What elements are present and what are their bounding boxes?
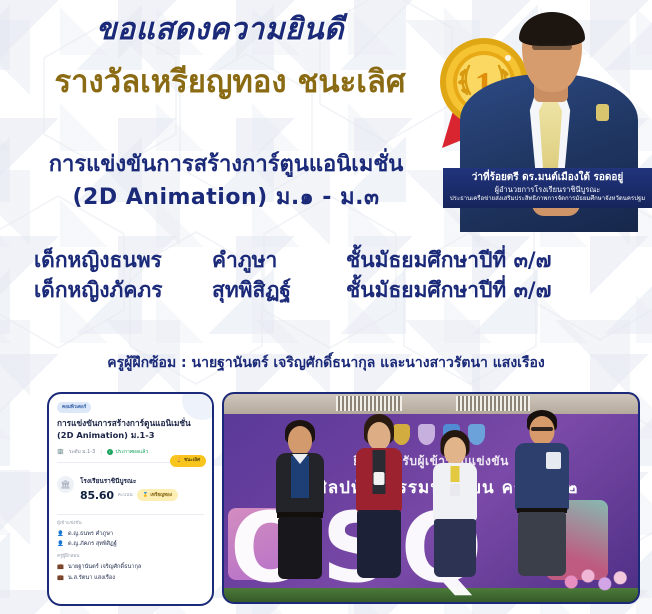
director-extra-role: ประธานเครือข่ายส่งเสริมประสิทธิภาพการจัด… (448, 195, 647, 203)
list-item: 💼 นายฐานันตร์ เจริญศักดิ์ธนากุล (57, 563, 204, 571)
coaches-heading: ครูผู้ฝึกสอน (57, 553, 204, 560)
balcony-railing (336, 396, 402, 411)
person-teacher-male (512, 410, 572, 590)
medal-icon: 🥇 (143, 493, 149, 498)
coach-name: นายฐานันตร์ เจริญศักดิ์ธนากุล (68, 563, 141, 571)
list-item: 👤 ด.ญ.ธนพร คำภูษา (57, 530, 204, 538)
glasses-icon (531, 427, 553, 431)
medal-badge-label: เหรียญทอง (150, 492, 172, 499)
head (444, 437, 466, 464)
trousers (518, 512, 566, 576)
director-nameplate: ว่าที่ร้อยตรี ดร.มนต์เมืองใต้ รอดอยู่ ผู… (443, 168, 652, 208)
necktie (451, 466, 460, 482)
participant-name: ด.ญ.ภัคภร สุทพิสิฏฐ์ (68, 540, 117, 548)
card-corner-decoration (182, 392, 214, 420)
award-poster: ขอแสดงความยินดี รางวัลเหรียญทอง ชนะเลิศ (0, 0, 652, 614)
meta-separator: | (100, 449, 102, 455)
teacher-icon: 💼 (57, 575, 64, 581)
school-result-row: 🏛 โรงเรียนราชินีบูรณะ 85.60 คะแนน 🥇 เหรี… (57, 476, 204, 502)
coach-line: ครูผู้ฝึกซ้อม : นายฐานันตร์ เจริญศักดิ์ธ… (0, 352, 652, 374)
student-class: ชั้นมัธยมศึกษาปีที่ ๓/๗ (346, 246, 596, 276)
result-card-title: การแข่งขันการสร้างการ์ตูนแอนิเมชั่น (2D … (57, 418, 204, 442)
skirt (357, 510, 401, 578)
score-unit: คะแนน (118, 492, 133, 499)
id-badge (374, 472, 385, 485)
score-line: 85.60 คะแนน 🥇 เหรียญทอง (80, 489, 178, 502)
award-title: รางวัลเหรียญทอง ชนะเลิศ (0, 56, 460, 106)
medal-badge: 🥇 เหรียญทอง (137, 489, 178, 501)
competition-result-card[interactable]: คอมพิวเตอร์ การแข่งขันการสร้างการ์ตูนแอน… (47, 392, 214, 606)
published-status: ✓ ประกาศผลแล้ว (107, 448, 148, 456)
student-title-name: เด็กหญิงภัคภร (34, 276, 212, 306)
winner-badge: 🏆 ชนะเลิศ (170, 455, 206, 467)
list-item: 👤 ด.ญ.ภัคภร สุทพิสิฏฐ์ (57, 540, 204, 548)
congratulations-text: ขอแสดงความยินดี (0, 6, 440, 53)
id-badge (450, 484, 460, 496)
category-tag[interactable]: คอมพิวเตอร์ (57, 402, 91, 413)
event-title: การแข่งขันการสร้างการ์ตูนแอนิเมชั่น (2D … (0, 148, 452, 214)
director-eyes (532, 44, 572, 50)
person-icon: 👤 (57, 541, 64, 547)
school-building-icon: 🏛 (57, 476, 74, 493)
building-roof (224, 394, 638, 414)
person-teacher-female (272, 420, 328, 590)
trophy-icon: 🏆 (176, 458, 182, 463)
coach-name: น.ส.รัตนา แสงเรือง (68, 574, 115, 582)
event-photo: ยินดีต้อนรับผู้เข้าร่วมแข่งขัน งานศิลปหั… (222, 392, 640, 604)
chest-emblem (546, 452, 561, 469)
school-icon: 🏢 (57, 449, 64, 455)
student-class: ชั้นมัธยมศึกษาปีที่ ๓/๗ (346, 276, 596, 306)
head (288, 426, 312, 455)
person-student-white-uniform (429, 430, 481, 590)
poster-header: ขอแสดงความยินดี รางวัลเหรียญทอง ชนะเลิศ (0, 0, 652, 232)
list-item: 💼 น.ส.รัตนา แสงเรือง (57, 574, 204, 582)
bottom-media-row: คอมพิวเตอร์ การแข่งขันการสร้างการ์ตูนแอน… (0, 390, 652, 614)
person-student-red-jacket (352, 414, 406, 590)
director-hair (519, 12, 585, 46)
director-lapel-pin-icon (596, 104, 609, 121)
teacher-icon: 💼 (57, 564, 64, 570)
event-title-line1: การแข่งขันการสร้างการ์ตูนแอนิเมชั่น (0, 148, 452, 181)
director-name: ว่าที่ร้อยตรี ดร.มนต์เมืองใต้ รอดอยู่ (448, 172, 647, 185)
winner-badge-label: ชนะเลิศ (184, 457, 200, 464)
student-row: เด็กหญิงภัคภร สุทพิสิฏฐ์ ชั้นมัธยมศึกษาป… (0, 276, 652, 306)
head (368, 422, 391, 450)
score-value: 85.60 (80, 489, 114, 502)
published-label: ประกาศผลแล้ว (115, 448, 148, 456)
result-score-section: 🏆 ชนะเลิศ 🏛 โรงเรียนราชินีบูรณะ 85.60 คะ… (49, 463, 212, 510)
student-last-name: สุทพิสิฏฐ์ (212, 276, 346, 306)
skirt (434, 519, 476, 577)
student-title-name: เด็กหญิงธนพร (34, 246, 212, 276)
director-role: ผู้อำนวยการโรงเรียนราชินีบูรณะ (448, 185, 647, 195)
student-last-name: คำภูษา (212, 246, 346, 276)
person-icon: 👤 (57, 531, 64, 537)
participant-name: ด.ญ.ธนพร คำภูษา (68, 530, 113, 538)
event-title-line2: (2D Animation) ม.๑ - ม.๓ (0, 181, 452, 214)
student-list: เด็กหญิงธนพร คำภูษา ชั้นมัธยมศึกษาปีที่ … (0, 246, 652, 306)
skirt (278, 517, 322, 579)
school-name: โรงเรียนราชินีบูรณะ (80, 476, 178, 486)
result-card-header: คอมพิวเตอร์ การแข่งขันการสร้างการ์ตูนแอน… (49, 394, 212, 462)
people-section: ผู้เข้าแข่งขัน 👤 ด.ญ.ธนพร คำภูษา 👤 ด.ญ.ภ… (49, 515, 212, 591)
participants-heading: ผู้เข้าแข่งขัน (57, 520, 204, 527)
check-circle-icon: ✓ (107, 449, 113, 455)
level-label: ระดับ ม.1-3 (69, 448, 95, 456)
student-row: เด็กหญิงธนพร คำภูษา ชั้นมัธยมศึกษาปีที่ … (0, 246, 652, 276)
balcony-railing (456, 396, 530, 411)
flower-decoration (560, 564, 630, 594)
school-result-info: โรงเรียนราชินีบูรณะ 85.60 คะแนน 🥇 เหรียญ… (80, 476, 178, 502)
